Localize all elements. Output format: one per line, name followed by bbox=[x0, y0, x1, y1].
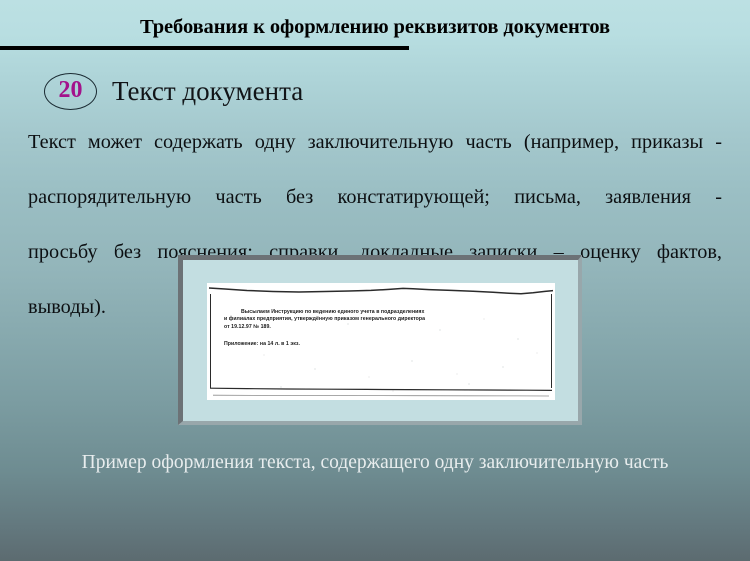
section-heading-label: Текст документа bbox=[112, 76, 303, 107]
scan-paragraph-line-2: и филиалах предприятия, утверждённую при… bbox=[224, 316, 545, 323]
scan-top-edge-line bbox=[207, 283, 555, 299]
scan-bottom-edge bbox=[207, 384, 555, 400]
slide-root: Требования к оформлению реквизитов докум… bbox=[0, 0, 750, 561]
scan-text-block: Высылаем Инструкцию по ведению единого у… bbox=[224, 309, 545, 349]
section-number-badge: 20 bbox=[44, 73, 97, 110]
title-underline-rule bbox=[0, 46, 409, 50]
body-line-1: Текст может содержать одну заключительну… bbox=[28, 129, 722, 184]
scan-paragraph-line-3: от 19.12.97 № 189. bbox=[224, 324, 545, 331]
scan-attachment-note: Приложение: на 14 л. в 1 экз. bbox=[224, 341, 545, 348]
scan-left-rule bbox=[210, 294, 211, 388]
scan-top-edge bbox=[207, 283, 555, 299]
scanned-document-sheet: Высылаем Инструкцию по ведению единого у… bbox=[207, 283, 555, 400]
document-image-frame: Высылаем Инструкцию по ведению единого у… bbox=[178, 255, 582, 425]
slide-header: Требования к оформлению реквизитов докум… bbox=[0, 0, 750, 56]
scan-right-rule bbox=[551, 294, 552, 388]
section-number-value: 20 bbox=[59, 78, 83, 102]
scan-bottom-edge-line bbox=[207, 384, 555, 400]
page-title: Требования к оформлению реквизитов докум… bbox=[0, 16, 750, 39]
document-image-mat: Высылаем Инструкцию по ведению единого у… bbox=[183, 260, 578, 421]
section-heading: 20 Текст документа bbox=[44, 68, 303, 114]
image-caption: Пример оформления текста, содержащего од… bbox=[0, 452, 750, 474]
body-line-2: распорядительную часть без констатирующе… bbox=[28, 184, 722, 239]
